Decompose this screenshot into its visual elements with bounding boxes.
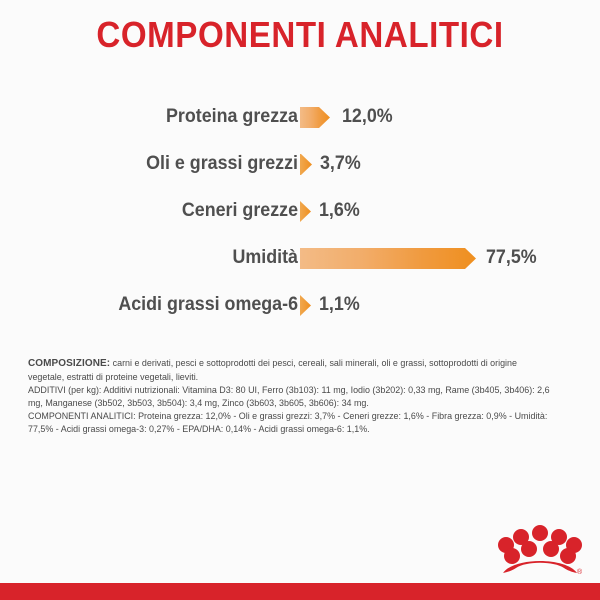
row-value-acidi-grassi-omega-6: 1,1% <box>319 294 360 316</box>
row-label-umidita: Umidità <box>25 247 298 269</box>
chart-row: Acidi grassi omega-6 1,1% <box>0 288 600 335</box>
chart-row: Umidità 77,5% <box>0 241 600 288</box>
bar-acidi-grassi-omega-6 <box>300 295 311 316</box>
row-label-oli-e-grassi-grezzi: Oli e grassi grezzi <box>25 153 298 175</box>
bar-proteina-grezza <box>300 107 330 128</box>
chart-row: Oli e grassi grezzi 3,7% <box>0 147 600 194</box>
row-value-proteina-grezza: 12,0% <box>342 106 393 128</box>
bar-fill <box>300 248 476 269</box>
bar-fill <box>300 201 311 222</box>
row-value-ceneri-grezze: 1,6% <box>319 200 360 222</box>
bar-fill <box>300 107 330 128</box>
chart-row: Proteina grezza 12,0% <box>0 100 600 147</box>
row-value-umidita: 77,5% <box>486 247 537 269</box>
page-title: COMPONENTI ANALITICI <box>24 14 576 56</box>
bar-umidita <box>300 248 476 269</box>
footer-red-bar <box>0 583 600 600</box>
row-value-oli-e-grassi-grezzi: 3,7% <box>320 153 361 175</box>
bar-oli-e-grassi-grezzi <box>300 154 312 175</box>
composizione-paragraph: COMPOSIZIONE: carni e derivati, pesci e … <box>28 357 554 383</box>
componenti-analitici-paragraph: COMPONENTI ANALITICI: Proteina grezza: 1… <box>28 410 554 435</box>
row-label-ceneri-grezze: Ceneri grezze <box>25 200 298 222</box>
ingredients-fineprint: COMPOSIZIONE: carni e derivati, pesci e … <box>28 357 554 437</box>
row-label-proteina-grezza: Proteina grezza <box>25 106 298 128</box>
row-label-acidi-grassi-omega-6: Acidi grassi omega-6 <box>25 294 298 316</box>
composizione-label: COMPOSIZIONE: <box>28 358 110 369</box>
registered-trademark-symbol: ® <box>577 568 582 576</box>
additivi-paragraph: ADDITIVI (per kg): Additivi nutrizionali… <box>28 384 554 409</box>
analytical-components-chart: Proteina grezza 12,0% Oli e grassi grezz… <box>0 100 600 335</box>
bar-fill <box>300 154 312 175</box>
chart-row: Ceneri grezze 1,6% <box>0 194 600 241</box>
bar-ceneri-grezze <box>300 201 311 222</box>
bar-fill <box>300 295 311 316</box>
royal-canin-crown-logo: ® <box>498 524 582 580</box>
